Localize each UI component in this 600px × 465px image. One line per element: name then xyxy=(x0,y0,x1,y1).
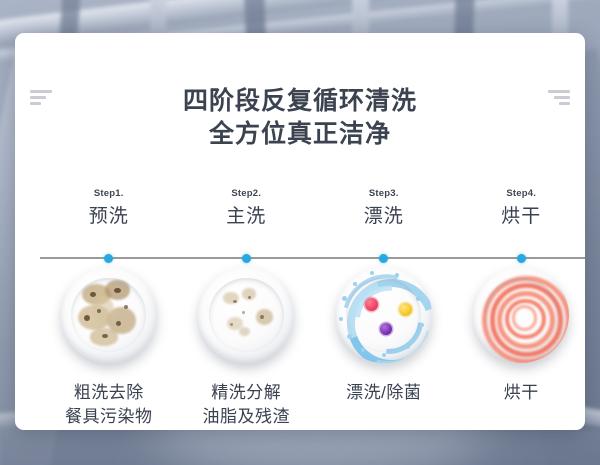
caption-2-line-1: 精洗分解 xyxy=(178,381,316,405)
page-title: 四阶段反复循环清洗 全方位真正洁净 xyxy=(15,85,585,151)
timeline-dot-cell-3 xyxy=(315,254,453,263)
caption-3: 漂洗/除菌 xyxy=(315,381,453,429)
step-name-1: 预洗 xyxy=(40,201,178,228)
caption-4-line-1: 烘干 xyxy=(453,381,586,405)
timeline-dot-cell-4 xyxy=(453,254,586,263)
caption-1-line-1: 粗洗去除 xyxy=(40,381,178,405)
timeline-dot-cell-1 xyxy=(40,254,178,263)
timeline-dot-3 xyxy=(379,254,388,263)
plate-cell-3 xyxy=(315,267,453,363)
caption-1: 粗洗去除 餐具污染物 xyxy=(40,381,178,429)
timeline-dot-4 xyxy=(517,254,526,263)
step-number-2: Step2. xyxy=(178,188,316,199)
step-number-3: Step3. xyxy=(315,188,453,199)
caption-4: 烘干 xyxy=(453,381,586,429)
caption-2: 精洗分解 油脂及残渣 xyxy=(178,381,316,429)
caption-3-line-1: 漂洗/除菌 xyxy=(315,381,453,405)
caption-2-line-2: 油脂及残渣 xyxy=(178,405,316,429)
title-line-2: 全方位真正洁净 xyxy=(15,118,585,151)
dirty-plate-light-soil xyxy=(198,267,294,363)
step-header-row: Step1. 预洗 Step2. 主洗 Step3. 漂洗 Step4. 烘干 xyxy=(40,188,585,228)
dirty-plate-heavy-soil xyxy=(61,267,157,363)
step-timeline xyxy=(40,252,585,264)
germ-yellow-icon xyxy=(399,303,412,316)
step-header-2: Step2. 主洗 xyxy=(178,188,316,228)
plate-cell-4 xyxy=(453,267,586,363)
germ-purple-icon xyxy=(380,323,392,335)
timeline-dot-2 xyxy=(242,254,251,263)
water-swirl-germs-plate xyxy=(336,267,432,363)
step-header-1: Step1. 预洗 xyxy=(40,188,178,228)
step-name-4: 烘干 xyxy=(453,201,586,228)
step-number-4: Step4. xyxy=(453,188,586,199)
plate-image-row xyxy=(40,267,585,363)
plate-cell-1 xyxy=(40,267,178,363)
caption-1-line-2: 餐具污染物 xyxy=(40,405,178,429)
timeline-dot-cell-2 xyxy=(178,254,316,263)
heat-rings-plate xyxy=(473,267,569,363)
step-name-2: 主洗 xyxy=(178,201,316,228)
germ-pink-icon xyxy=(365,298,378,311)
timeline-dot-1 xyxy=(104,254,113,263)
step-header-4: Step4. 烘干 xyxy=(453,188,586,228)
plate-cell-2 xyxy=(178,267,316,363)
step-header-3: Step3. 漂洗 xyxy=(315,188,453,228)
step-number-1: Step1. xyxy=(40,188,178,199)
content-card: 四阶段反复循环清洗 全方位真正洁净 Step1. 预洗 Step2. 主洗 St… xyxy=(15,33,585,430)
caption-row: 粗洗去除 餐具污染物 精洗分解 油脂及残渣 漂洗/除菌 烘干 xyxy=(40,381,585,429)
step-name-3: 漂洗 xyxy=(315,201,453,228)
title-line-1: 四阶段反复循环清洗 xyxy=(15,85,585,118)
